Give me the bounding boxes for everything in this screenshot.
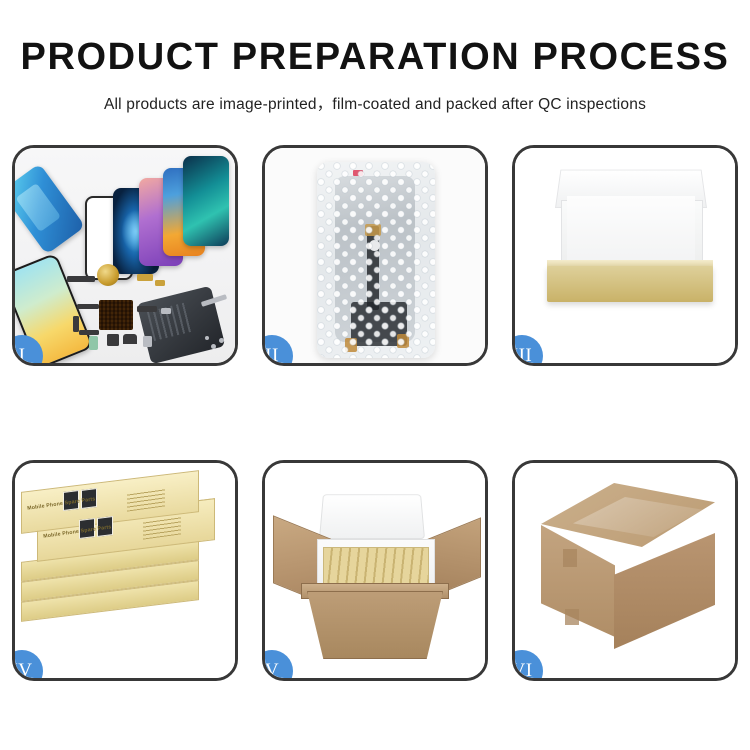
step-panel-2: II xyxy=(262,145,488,366)
carton-handle-tab-icon xyxy=(565,609,579,625)
step-cell-1: I xyxy=(12,145,238,366)
step-panel-4: Mobile Phone Spare Parts Mobile Phone Sp… xyxy=(12,460,238,681)
step-panel-3: III xyxy=(512,145,738,366)
gold-box-tray-icon xyxy=(547,266,713,302)
volume-flex-part-icon xyxy=(73,316,79,332)
screw-part-icon xyxy=(205,336,209,340)
loudspeaker-part-icon xyxy=(123,334,137,344)
step-cell-5: V xyxy=(262,460,488,681)
header: PRODUCT PREPARATION PROCESS All products… xyxy=(0,0,750,114)
phone-teal-icon xyxy=(183,156,229,246)
battery-connector-part-icon xyxy=(89,336,98,350)
bubble-wrap-bag-icon xyxy=(317,162,435,358)
foam-case-lid-icon xyxy=(319,494,425,539)
antenna-part-icon xyxy=(79,330,99,335)
step-cell-4: Mobile Phone Spare Parts Mobile Phone Sp… xyxy=(12,460,238,681)
step-photo-2 xyxy=(265,148,485,363)
step-photo-6 xyxy=(515,463,735,678)
earpiece-part-icon xyxy=(67,276,95,282)
page-title: PRODUCT PREPARATION PROCESS xyxy=(0,0,750,76)
step-panel-1: I xyxy=(12,145,238,366)
vibrator-part-icon xyxy=(107,334,119,346)
speaker-coil-part-icon xyxy=(97,264,119,286)
step-photo-3 xyxy=(515,148,735,363)
carton-handle-tab-icon xyxy=(563,549,577,567)
carton-body-icon xyxy=(307,591,443,659)
bubble-texture xyxy=(317,162,435,358)
step-cell-3: III xyxy=(512,145,738,366)
bracket-part-icon xyxy=(161,308,171,314)
connector-part-icon xyxy=(155,280,165,286)
screw-part-icon xyxy=(211,344,216,349)
button-flex-part-icon xyxy=(77,304,99,309)
flex-cable-part-icon xyxy=(137,274,153,281)
product-preparation-infographic: PRODUCT PREPARATION PROCESS All products… xyxy=(0,0,750,750)
step-photo-1 xyxy=(15,148,235,363)
camera-flex-part-icon xyxy=(137,306,157,312)
step-cell-2: II xyxy=(262,145,488,366)
steps-grid: I xyxy=(12,145,738,681)
step-panel-5: V xyxy=(262,460,488,681)
step-cell-6: VI xyxy=(512,460,738,681)
step-photo-4: Mobile Phone Spare Parts Mobile Phone Sp… xyxy=(15,463,235,678)
screw-part-icon xyxy=(219,338,224,343)
speaker-mesh-part-icon xyxy=(99,300,133,330)
step-photo-5 xyxy=(265,463,485,678)
sim-tray-part-icon xyxy=(143,336,152,347)
page-subtitle: All products are image-printed，film-coat… xyxy=(0,76,750,114)
step-panel-6: VI xyxy=(512,460,738,681)
